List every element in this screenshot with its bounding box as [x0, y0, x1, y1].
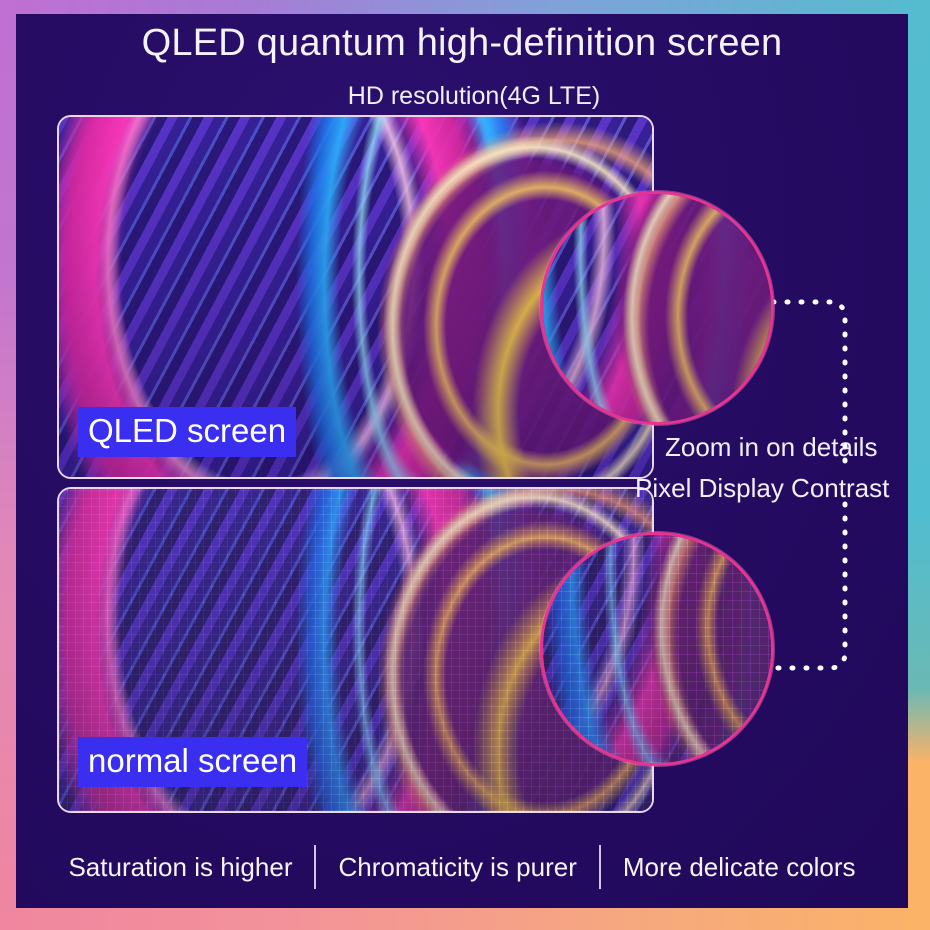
frame-edge-top [0, 0, 930, 14]
magnified-wallpaper-normal [540, 532, 774, 766]
feature-item-chromaticity: Chromaticity is purer [316, 852, 598, 883]
feature-item-saturation: Saturation is higher [46, 852, 314, 883]
screen-label-normal: normal screen [78, 737, 307, 787]
screen-label-qled: QLED screen [78, 407, 296, 457]
callout-zoom-in-on-details: Zoom in on details [665, 432, 877, 463]
page-title: QLED quantum high-definition screen [16, 22, 908, 65]
frame-edge-bottom [0, 908, 930, 930]
feature-item-colors: More delicate colors [601, 852, 878, 883]
frame-edge-right [908, 0, 930, 930]
feature-list: Saturation is higher Chromaticity is pur… [16, 834, 908, 900]
magnifier-circle-normal [540, 532, 774, 766]
frame-edge-left [0, 0, 16, 930]
magnifier-circle-qled [540, 191, 774, 425]
poster-root: QLED quantum high-definition screen HD r… [0, 0, 930, 930]
page-subtitle: HD resolution(4G LTE) [16, 82, 908, 111]
callout-pixel-display-contrast: Pixel Display Contrast [635, 473, 889, 504]
magnified-wallpaper-qled [540, 191, 774, 425]
poster-canvas: QLED quantum high-definition screen HD r… [16, 14, 908, 908]
